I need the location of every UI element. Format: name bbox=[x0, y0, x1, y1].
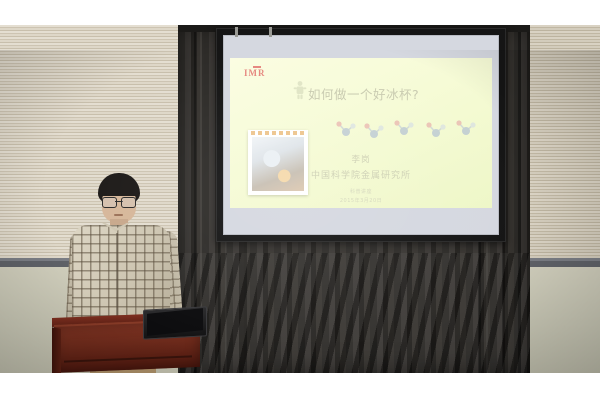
letterbox-top bbox=[0, 0, 600, 25]
snowflake-emblem-icon bbox=[292, 80, 308, 100]
laptop-lid bbox=[143, 306, 207, 339]
upper-wall-panel-right bbox=[530, 25, 600, 258]
screen-surface: IMR 如何做一个好冰杯? bbox=[223, 35, 499, 235]
thumbnail-tabs bbox=[251, 131, 305, 135]
letterbox-bottom bbox=[0, 373, 600, 400]
projection-screen: IMR 如何做一个好冰杯? bbox=[216, 28, 506, 242]
presentation-photo: IMR 如何做一个好冰杯? bbox=[0, 0, 600, 400]
slide-organization: 中国科学院金属研究所 bbox=[230, 168, 492, 181]
laptop bbox=[143, 308, 209, 338]
slide-byline: 李岗 中国科学院金属研究所 科普讲座 2015年3月20日 bbox=[230, 153, 492, 204]
slide-speaker-name: 李岗 bbox=[230, 153, 492, 165]
slide-title: 如何做一个好冰杯? bbox=[308, 84, 492, 103]
imr-logo: IMR bbox=[244, 66, 266, 78]
slide-subtitle-2: 2015年3月20日 bbox=[230, 197, 492, 204]
slide-subtitle-1: 科普讲座 bbox=[230, 188, 492, 195]
imr-logo-text: IMR bbox=[244, 68, 266, 78]
glasses-icon bbox=[102, 197, 136, 206]
curtain-gather bbox=[178, 253, 530, 373]
presenter-mouth bbox=[114, 214, 123, 216]
laptop-screen bbox=[147, 308, 203, 336]
room-photograph: IMR 如何做一个好冰杯? bbox=[0, 25, 600, 373]
presenter-fringe bbox=[99, 183, 139, 196]
presentation-slide: IMR 如何做一个好冰杯? bbox=[230, 58, 492, 208]
shirt-placket bbox=[116, 233, 118, 319]
podium-side-panel bbox=[52, 327, 61, 373]
water-molecule-graphics bbox=[336, 120, 492, 142]
